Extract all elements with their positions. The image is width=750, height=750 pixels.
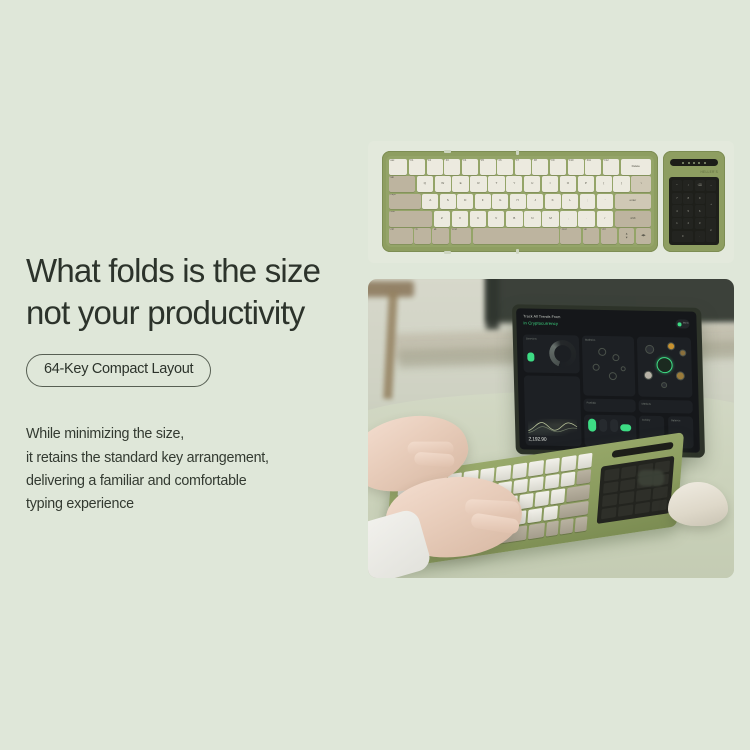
photo-numpad [597,456,675,524]
card-label: Balance [671,419,680,422]
network-node [598,348,606,356]
network-node [593,364,600,371]
numpad-key: 1 [672,218,682,229]
token-icon [644,371,653,380]
numpad-key: 8 [683,193,693,204]
token-icon-active [656,357,672,373]
toggle [610,419,618,432]
key-deck: esc F1 F2 F3 F4 F5 F6 F7 F8 F9 F10 F11 F… [386,156,654,247]
numpad-key: 4 [672,205,682,216]
account-avatar: Mono [675,319,689,328]
numpad-key: 2 [683,218,693,229]
token-icon [676,371,685,380]
card-label: Activity [642,418,650,421]
key-row-shift: shift Z X C V B N M , . / shift [389,211,651,227]
token-icon [667,342,675,350]
toggle [599,419,607,432]
numpad-key: 6 [695,205,705,216]
numpad-key: ↵ [706,218,716,242]
numpad-key: 3 [695,218,705,229]
token-icon [645,345,654,354]
numpad-key: ⌫ [695,180,705,191]
hinge-mark [444,251,451,254]
numpad-key: / [683,180,693,191]
hinge-pin [516,150,519,155]
toggle-active [588,419,596,432]
tablet-screen: Track All Trends From in Cryptocurrency … [516,308,700,452]
network-node [621,366,626,371]
key-row-bottom: ctrl fn alt cmd cmd alt ctrl ▲▼ ◀▶ [389,228,651,244]
network-node [612,354,619,361]
gauge-chart [549,340,577,368]
key-row-function: esc F1 F2 F3 F4 F5 F6 F7 F8 F9 F10 F11 F… [389,159,651,175]
indicator-led-strip [670,159,718,166]
numpad-key: 5 [683,205,693,216]
numpad-key: + [706,193,716,217]
lifestyle-photo: Track All Trends From in Cryptocurrency … [368,279,734,578]
page-title: What folds is the size not your producti… [26,250,366,334]
window-frame-vertical [486,279,499,331]
dashboard-card-network: Statistics [582,336,636,397]
numpad-key: . [695,231,705,242]
marketing-copy-column: What folds is the size not your producti… [26,250,366,516]
key-row-home: caps A S D F G H J K L ; ' enter [389,194,651,210]
numpad-module: HELLER'S * / ⌫ − 7 8 9 + 4 5 6 1 2 3 ↵ 0… [663,151,725,252]
key-row-qwerty: tab Q W E R T Y U I O P [ ] \ [389,176,651,192]
finger [414,452,455,468]
dashboard-card-tokens [637,337,693,398]
numpad-key: 9 [695,193,705,204]
hinge-pin [516,249,519,254]
card-label: Overview [526,337,537,340]
keyboard-body: esc F1 F2 F3 F4 F5 F6 F7 F8 F9 F10 F11 F… [382,151,658,252]
network-node [609,372,617,380]
toggle-pill [620,424,631,431]
numpad-key: 7 [672,193,682,204]
dashboard-card-gauge: Overview [523,334,580,373]
numpad-key: − [706,180,716,191]
numpad-key: * [672,180,682,191]
dashboard-title: Track All Trends From [523,314,560,319]
brand-logo: HELLER'S [700,170,718,174]
status-dot [527,352,534,361]
sparkline-chart [528,418,577,436]
card-label: Statistics [585,338,595,341]
keyboard-product-image: esc F1 F2 F3 F4 F5 F6 F7 F8 F9 F10 F11 F… [368,141,734,263]
hinge-mark [444,150,451,153]
dashboard-card-rate: Markets [638,400,692,414]
numpad-key-grid: * / ⌫ − 7 8 9 + 4 5 6 1 2 3 ↵ 0 . [669,177,719,245]
body-paragraph: While minimizing the size, it retains th… [26,423,366,516]
dashboard-card-action: Portfolio [583,399,635,413]
card-label: Portfolio [587,401,597,404]
numpad-key: 0 [672,231,693,242]
balance-value: 2,192.90 [528,436,546,442]
dashboard-subtitle: in Cryptocurrency [523,320,558,326]
dashboard-card-sparkline: 2,192.90 [524,375,582,446]
token-icon [661,382,667,388]
card-label: Markets [642,402,651,405]
token-icon [679,349,686,356]
status-badge: 64-Key Compact Layout [26,354,211,387]
desk-object [638,470,664,486]
